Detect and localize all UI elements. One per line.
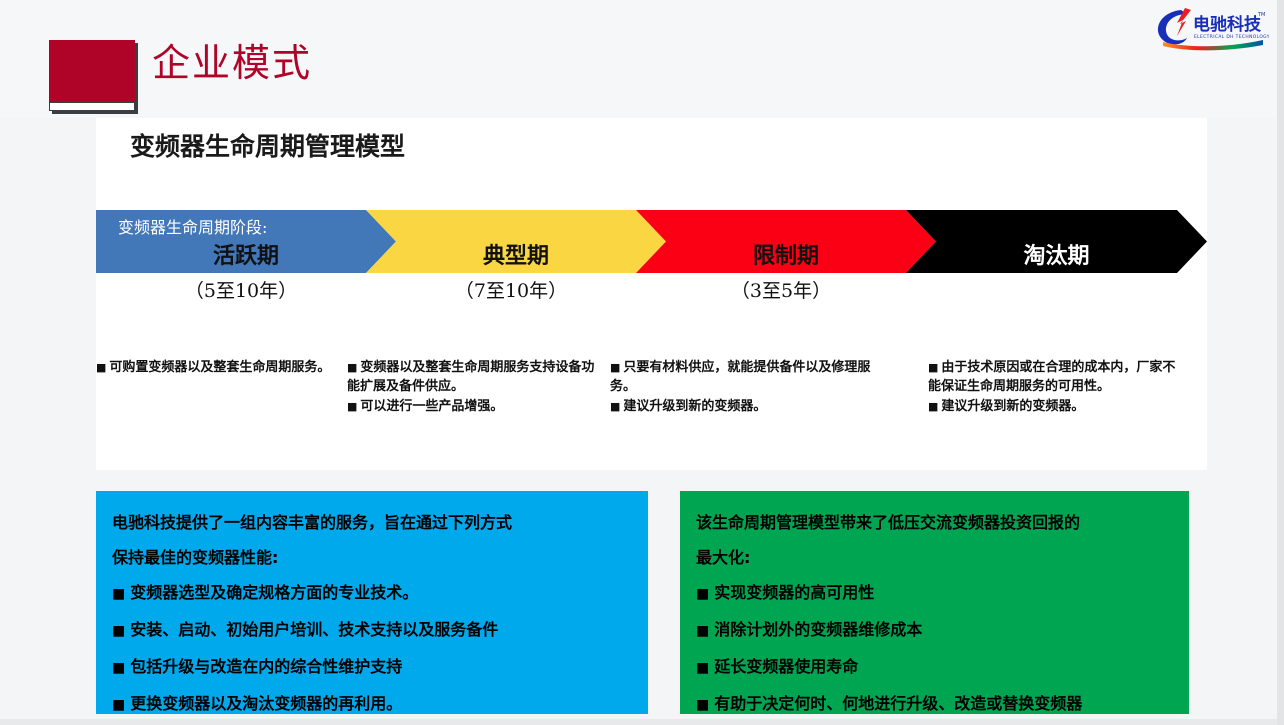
bullet-square-icon: ■ <box>696 586 709 602</box>
stage-chevron-obsolete[interactable]: 淘汰期 <box>906 210 1207 273</box>
list-item: ■消除计划外的变频器维修成本 <box>696 612 1189 649</box>
bullet-square-icon: ■ <box>696 623 709 639</box>
stage-name-obsolete: 淘汰期 <box>906 246 1207 268</box>
stage-name-active: 活跃期 <box>96 246 396 268</box>
stage-band-label: 变频器生命周期阶段: <box>118 214 267 238</box>
benefits-box-heading-line1: 该生命周期管理模型带来了低压交流变频器投资回报的 <box>696 505 1189 540</box>
list-item: ■建议升级到新的变频器。 <box>928 397 1176 416</box>
bullet-square-icon: ■ <box>96 361 106 374</box>
list-item: ■变频器以及整套生命周期服务支持设备功能扩展及备件供应。 <box>347 358 599 396</box>
svg-text:ELECTRICAL DH TECHNOLOGY: ELECTRICAL DH TECHNOLOGY <box>1194 34 1269 40</box>
lifecycle-chevron-band: 变频器生命周期阶段: 活跃期 典型期 限制期 淘汰期 <box>96 210 1207 273</box>
slide-root: 企业模式 电驰科技 ELECTRICAL DH TECHNOLOGY <box>0 0 1284 725</box>
stage-name-limited: 限制期 <box>636 246 936 268</box>
stage-years-active: （5至10年） <box>96 276 386 303</box>
content-panel: 变频器生命周期管理模型 变频器生命周期阶段: 活跃期 典型期 限制期 淘汰期 （… <box>96 118 1207 470</box>
list-item: ■包括升级与改造在内的综合性维护支持 <box>112 649 648 686</box>
stage-column-typical: ■变频器以及整套生命周期服务支持设备功能扩展及备件供应。 ■可以进行一些产品增强… <box>347 358 599 417</box>
list-item: ■有助于决定何时、何地进行升级、改造或替换变频器 <box>696 686 1189 723</box>
list-item: ■只要有材料供应，就能提供备件以及修理服务。 <box>610 358 876 396</box>
stage-years-typical: （7至10年） <box>366 276 656 303</box>
bullet-square-icon: ■ <box>112 623 125 639</box>
bullet-square-icon: ■ <box>696 697 709 713</box>
stage-years-limited: （3至5年） <box>636 276 926 303</box>
list-item: ■可以进行一些产品增强。 <box>347 397 599 416</box>
right-scroll-rail[interactable] <box>1277 0 1284 725</box>
list-item: ■变频器选型及确定规格方面的专业技术。 <box>112 575 648 612</box>
list-item: ■更换变频器以及淘汰变频器的再利用。 <box>112 686 648 723</box>
list-item: ■实现变频器的高可用性 <box>696 575 1189 612</box>
stage-detail-columns: ■可购置变频器以及整套生命周期服务。 ■变频器以及整套生命周期服务支持设备功能扩… <box>96 358 1207 458</box>
bullet-square-icon: ■ <box>112 586 125 602</box>
services-box-heading-line2: 保持最佳的变频器性能: <box>112 540 648 575</box>
bullet-square-icon: ■ <box>610 400 620 413</box>
stage-name-typical: 典型期 <box>366 246 666 268</box>
bullet-square-icon: ■ <box>112 697 125 713</box>
services-box: 电驰科技提供了一组内容丰富的服务，旨在通过下列方式 保持最佳的变频器性能: ■变… <box>96 491 648 714</box>
benefits-box: 该生命周期管理模型带来了低压交流变频器投资回报的 最大化: ■实现变频器的高可用… <box>680 491 1189 714</box>
diagram-title: 变频器生命周期管理模型 <box>130 127 405 163</box>
stage-column-active: ■可购置变频器以及整套生命周期服务。 <box>96 358 342 378</box>
stage-chevron-typical[interactable]: 典型期 <box>366 210 666 273</box>
header-red-emblem <box>49 40 138 114</box>
company-logo: 电驰科技 ELECTRICAL DH TECHNOLOGY TM <box>1147 2 1269 52</box>
stage-column-obsolete: ■由于技术原因或在合理的成本内，厂家不能保证生命周期服务的可用性。 ■建议升级到… <box>928 358 1176 417</box>
list-item: ■安装、启动、初始用户培训、技术支持以及服务备件 <box>112 612 648 649</box>
stage-chevron-limited[interactable]: 限制期 <box>636 210 936 273</box>
slide-header: 企业模式 电驰科技 ELECTRICAL DH TECHNOLOGY <box>0 0 1277 118</box>
list-item: ■由于技术原因或在合理的成本内，厂家不能保证生命周期服务的可用性。 <box>928 358 1176 396</box>
bullet-square-icon: ■ <box>928 400 938 413</box>
bullet-square-icon: ■ <box>347 361 357 374</box>
list-item: ■延长变频器使用寿命 <box>696 649 1189 686</box>
svg-text:TM: TM <box>1257 12 1265 18</box>
page-title: 企业模式 <box>152 44 312 82</box>
benefits-box-heading-line2: 最大化: <box>696 540 1189 575</box>
stage-chevron-active[interactable]: 变频器生命周期阶段: 活跃期 <box>96 210 396 273</box>
bullet-square-icon: ■ <box>696 660 709 676</box>
bullet-square-icon: ■ <box>610 361 620 374</box>
bullet-square-icon: ■ <box>347 400 357 413</box>
svg-text:电驰科技: 电驰科技 <box>1193 14 1262 35</box>
bullet-square-icon: ■ <box>112 660 125 676</box>
bullet-square-icon: ■ <box>928 361 938 374</box>
list-item: ■可购置变频器以及整套生命周期服务。 <box>96 358 342 377</box>
stage-column-limited: ■只要有材料供应，就能提供备件以及修理服务。 ■建议升级到新的变频器。 <box>610 358 876 417</box>
services-box-heading-line1: 电驰科技提供了一组内容丰富的服务，旨在通过下列方式 <box>112 505 648 540</box>
list-item: ■建议升级到新的变频器。 <box>610 397 876 416</box>
emblem-red-block <box>49 40 135 102</box>
emblem-white-strip <box>49 102 135 111</box>
